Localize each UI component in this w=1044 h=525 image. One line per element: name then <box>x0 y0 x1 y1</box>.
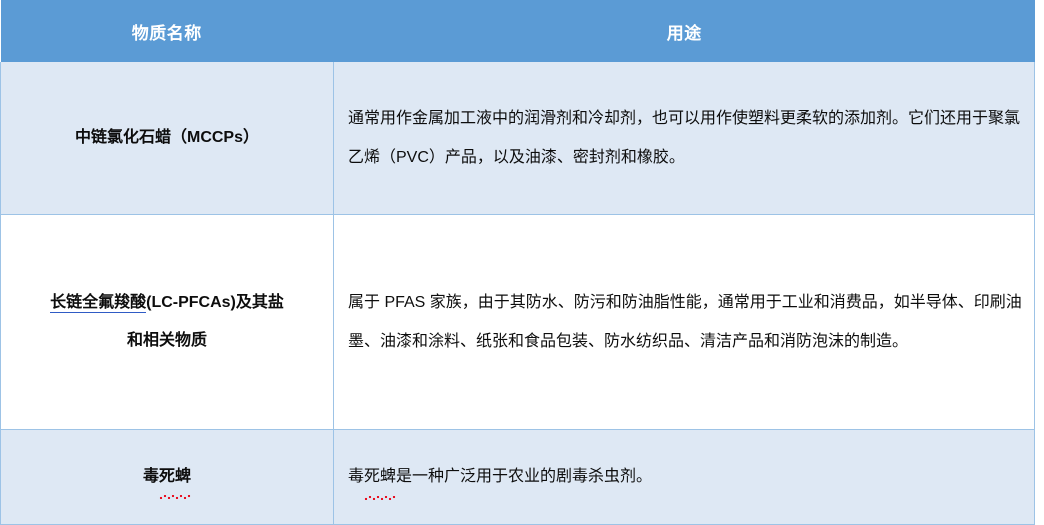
spellcheck-underlined-text: 死蜱 <box>159 458 191 496</box>
substance-name-line-1: 长链全氟羧酸(LC-PFCAs)及其盐 <box>15 284 319 322</box>
column-header-use: 用途 <box>334 0 1035 62</box>
use-description-prefix: 毒 <box>348 468 364 485</box>
table-row: 毒死蜱 毒死蜱是一种广泛用于农业的剧毒杀虫剂。 <box>1 430 1035 525</box>
table-row: 长链全氟羧酸(LC-PFCAs)及其盐 和相关物质 属于 PFAS 家族，由于其… <box>1 215 1035 430</box>
spellcheck-underlined-text: 死蜱 <box>364 457 396 496</box>
substance-name-prefix: 毒 <box>143 468 159 485</box>
cell-substance-name: 毒死蜱 <box>1 430 334 525</box>
use-description-text: 属于 PFAS 家族，由于其防水、防污和防油脂性能，通常用于工业和消费品，如半导… <box>348 294 1022 350</box>
table-header: 物质名称 用途 <box>1 0 1035 62</box>
substance-name-linked-part: 长链全氟羧酸 <box>50 294 146 313</box>
cell-use-description: 通常用作金属加工液中的润滑剂和冷却剂，也可以用作使塑料更柔软的添加剂。它们还用于… <box>334 62 1035 215</box>
cell-use-description: 毒死蜱是一种广泛用于农业的剧毒杀虫剂。 <box>334 430 1035 525</box>
use-description-text: 通常用作金属加工液中的润滑剂和冷却剂，也可以用作使塑料更柔软的添加剂。它们还用于… <box>348 110 1020 166</box>
column-header-substance-name: 物质名称 <box>1 0 334 62</box>
substance-name-plain-part: (LC-PFCAs)及其盐 <box>146 294 284 311</box>
table-row: 中链氯化石蜡（MCCPs） 通常用作金属加工液中的润滑剂和冷却剂，也可以用作使塑… <box>1 62 1035 215</box>
use-description-rest: 是一种广泛用于农业的剧毒杀虫剂。 <box>396 468 652 485</box>
cell-use-description: 属于 PFAS 家族，由于其防水、防污和防油脂性能，通常用于工业和消费品，如半导… <box>334 215 1035 430</box>
substance-name-line-2: 和相关物质 <box>15 322 319 360</box>
substance-table: 物质名称 用途 中链氯化石蜡（MCCPs） 通常用作金属加工液中的润滑剂和冷却剂… <box>0 0 1035 525</box>
substance-name-text: 中链氯化石蜡（MCCPs） <box>75 129 259 146</box>
cell-substance-name: 中链氯化石蜡（MCCPs） <box>1 62 334 215</box>
cell-substance-name: 长链全氟羧酸(LC-PFCAs)及其盐 和相关物质 <box>1 215 334 430</box>
header-row: 物质名称 用途 <box>1 0 1035 62</box>
substance-table-container: 物质名称 用途 中链氯化石蜡（MCCPs） 通常用作金属加工液中的润滑剂和冷却剂… <box>0 0 1044 525</box>
table-body: 中链氯化石蜡（MCCPs） 通常用作金属加工液中的润滑剂和冷却剂，也可以用作使塑… <box>1 62 1035 525</box>
